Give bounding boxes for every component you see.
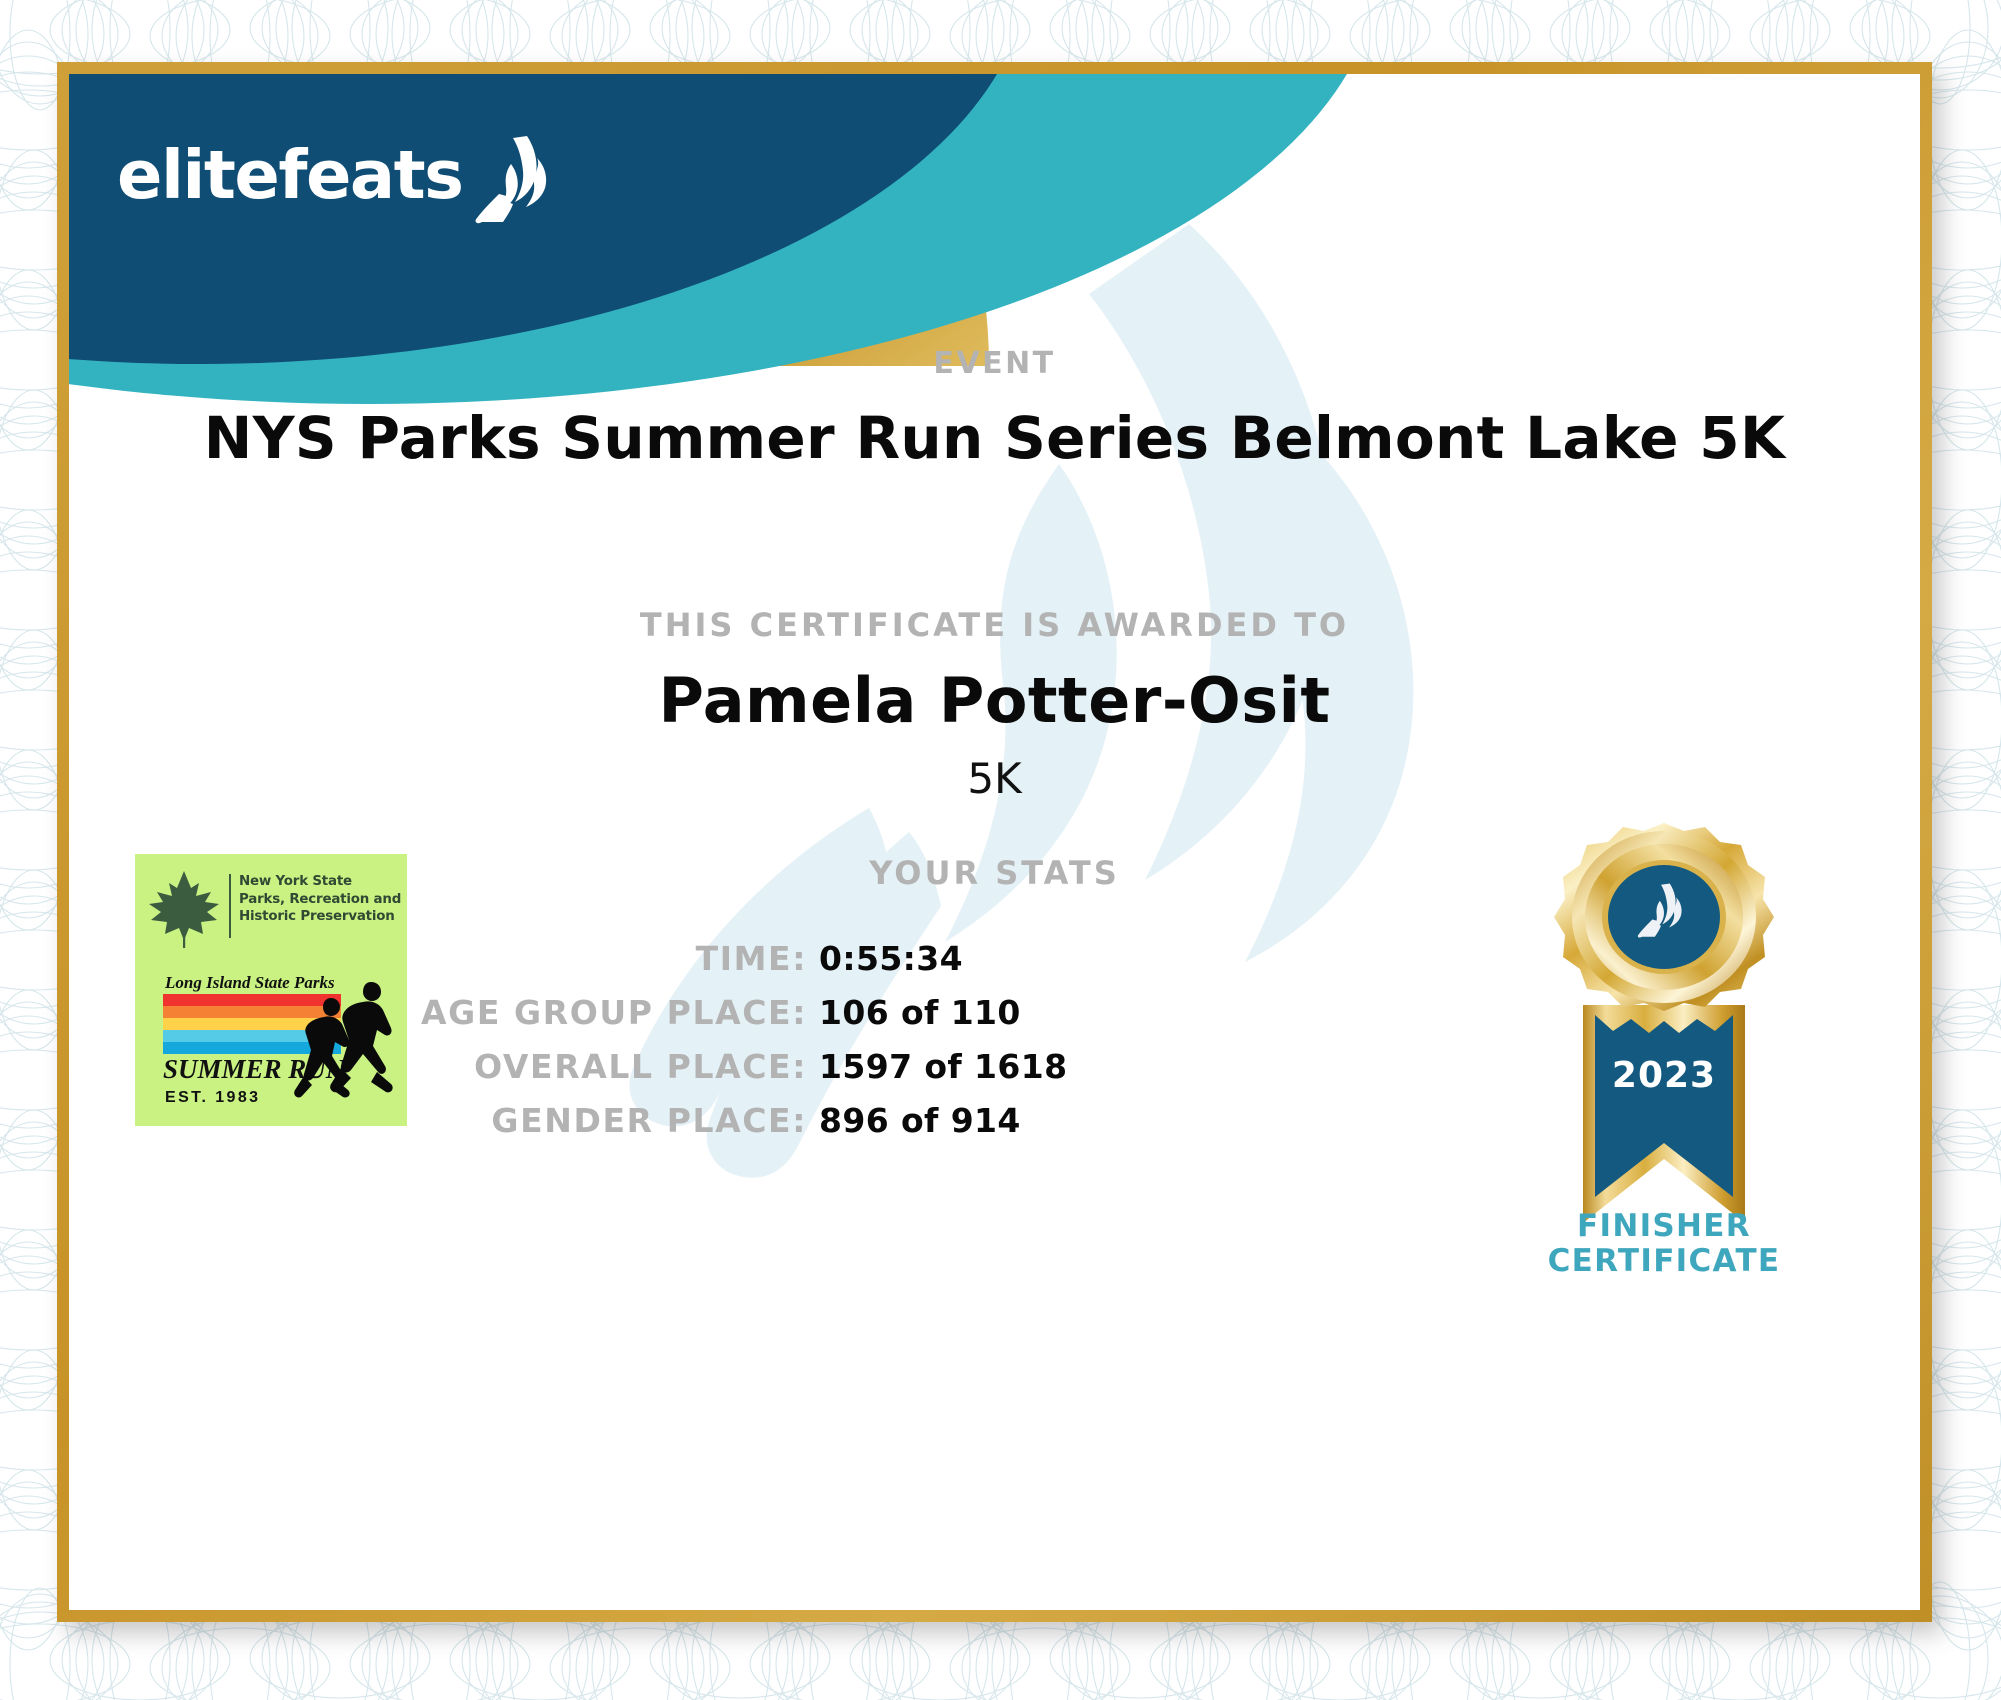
stat-value-overall-place: 1597 of 1618 [819, 1047, 1079, 1086]
certificate-body: elitefeats EVENT NYS Parks Summer Run Se… [69, 74, 1920, 1610]
parks-divider [229, 874, 231, 938]
brand-logo: elitefeats [117, 126, 549, 224]
stat-value-age-group-place: 106 of 110 [819, 993, 1079, 1032]
established-label: EST. 1983 [165, 1089, 260, 1106]
stat-label-overall-place: OVERALL PLACE: [399, 1047, 807, 1086]
certificate-frame: elitefeats EVENT NYS Parks Summer Run Se… [57, 62, 1932, 1622]
parks-dept-line-2: Parks, Recreation and [239, 891, 401, 909]
parks-dept-line-3: Historic Preservation [239, 908, 401, 926]
stat-label-gender-place: GENDER PLACE: [399, 1101, 807, 1140]
stat-row: AGE GROUP PLACE: 106 of 110 [399, 993, 1079, 1032]
finisher-caption-line-2: CERTIFICATE [1494, 1244, 1834, 1279]
ribbon-face [1595, 1015, 1733, 1197]
parks-region-label: Long Island State Parks [164, 973, 335, 992]
stat-value-gender-place: 896 of 914 [819, 1101, 1079, 1140]
finisher-caption: FINISHER CERTIFICATE [1494, 1209, 1834, 1278]
maple-leaf-icon [145, 868, 223, 950]
nys-parks-summer-run-logo: New York State Parks, Recreation and His… [135, 854, 407, 1126]
parks-department-text: New York State Parks, Recreation and His… [239, 873, 401, 926]
parks-dept-line-1: New York State [239, 873, 401, 891]
winged-foot-icon [471, 132, 549, 224]
medal-year: 2023 [1612, 1055, 1716, 1096]
awarded-to-label: THIS CERTIFICATE IS AWARDED TO [69, 606, 1920, 644]
stat-row: GENDER PLACE: 896 of 914 [399, 1101, 1079, 1140]
brand-wordmark: elitefeats [117, 142, 463, 209]
recipient-name: Pamela Potter-Osit [69, 664, 1920, 737]
stat-label-time: TIME: [399, 939, 807, 978]
parks-department-header: New York State Parks, Recreation and His… [145, 868, 401, 950]
stats-block: TIME: 0:55:34 AGE GROUP PLACE: 106 of 11… [399, 939, 1079, 1155]
medal-disc [1554, 823, 1774, 1011]
stat-row: TIME: 0:55:34 [399, 939, 1079, 978]
stat-row: OVERALL PLACE: 1597 of 1618 [399, 1047, 1079, 1086]
recipient-distance: 5K [69, 754, 1920, 803]
stat-label-age-group-place: AGE GROUP PLACE: [399, 993, 807, 1032]
finisher-caption-line-1: FINISHER [1494, 1209, 1834, 1244]
stat-value-time: 0:55:34 [819, 939, 1079, 978]
event-title: NYS Parks Summer Run Series Belmont Lake… [69, 404, 1920, 472]
summer-run-emblem: Long Island State Parks SUMMER RUN EST. … [135, 966, 407, 1126]
event-label: EVENT [69, 346, 1920, 381]
